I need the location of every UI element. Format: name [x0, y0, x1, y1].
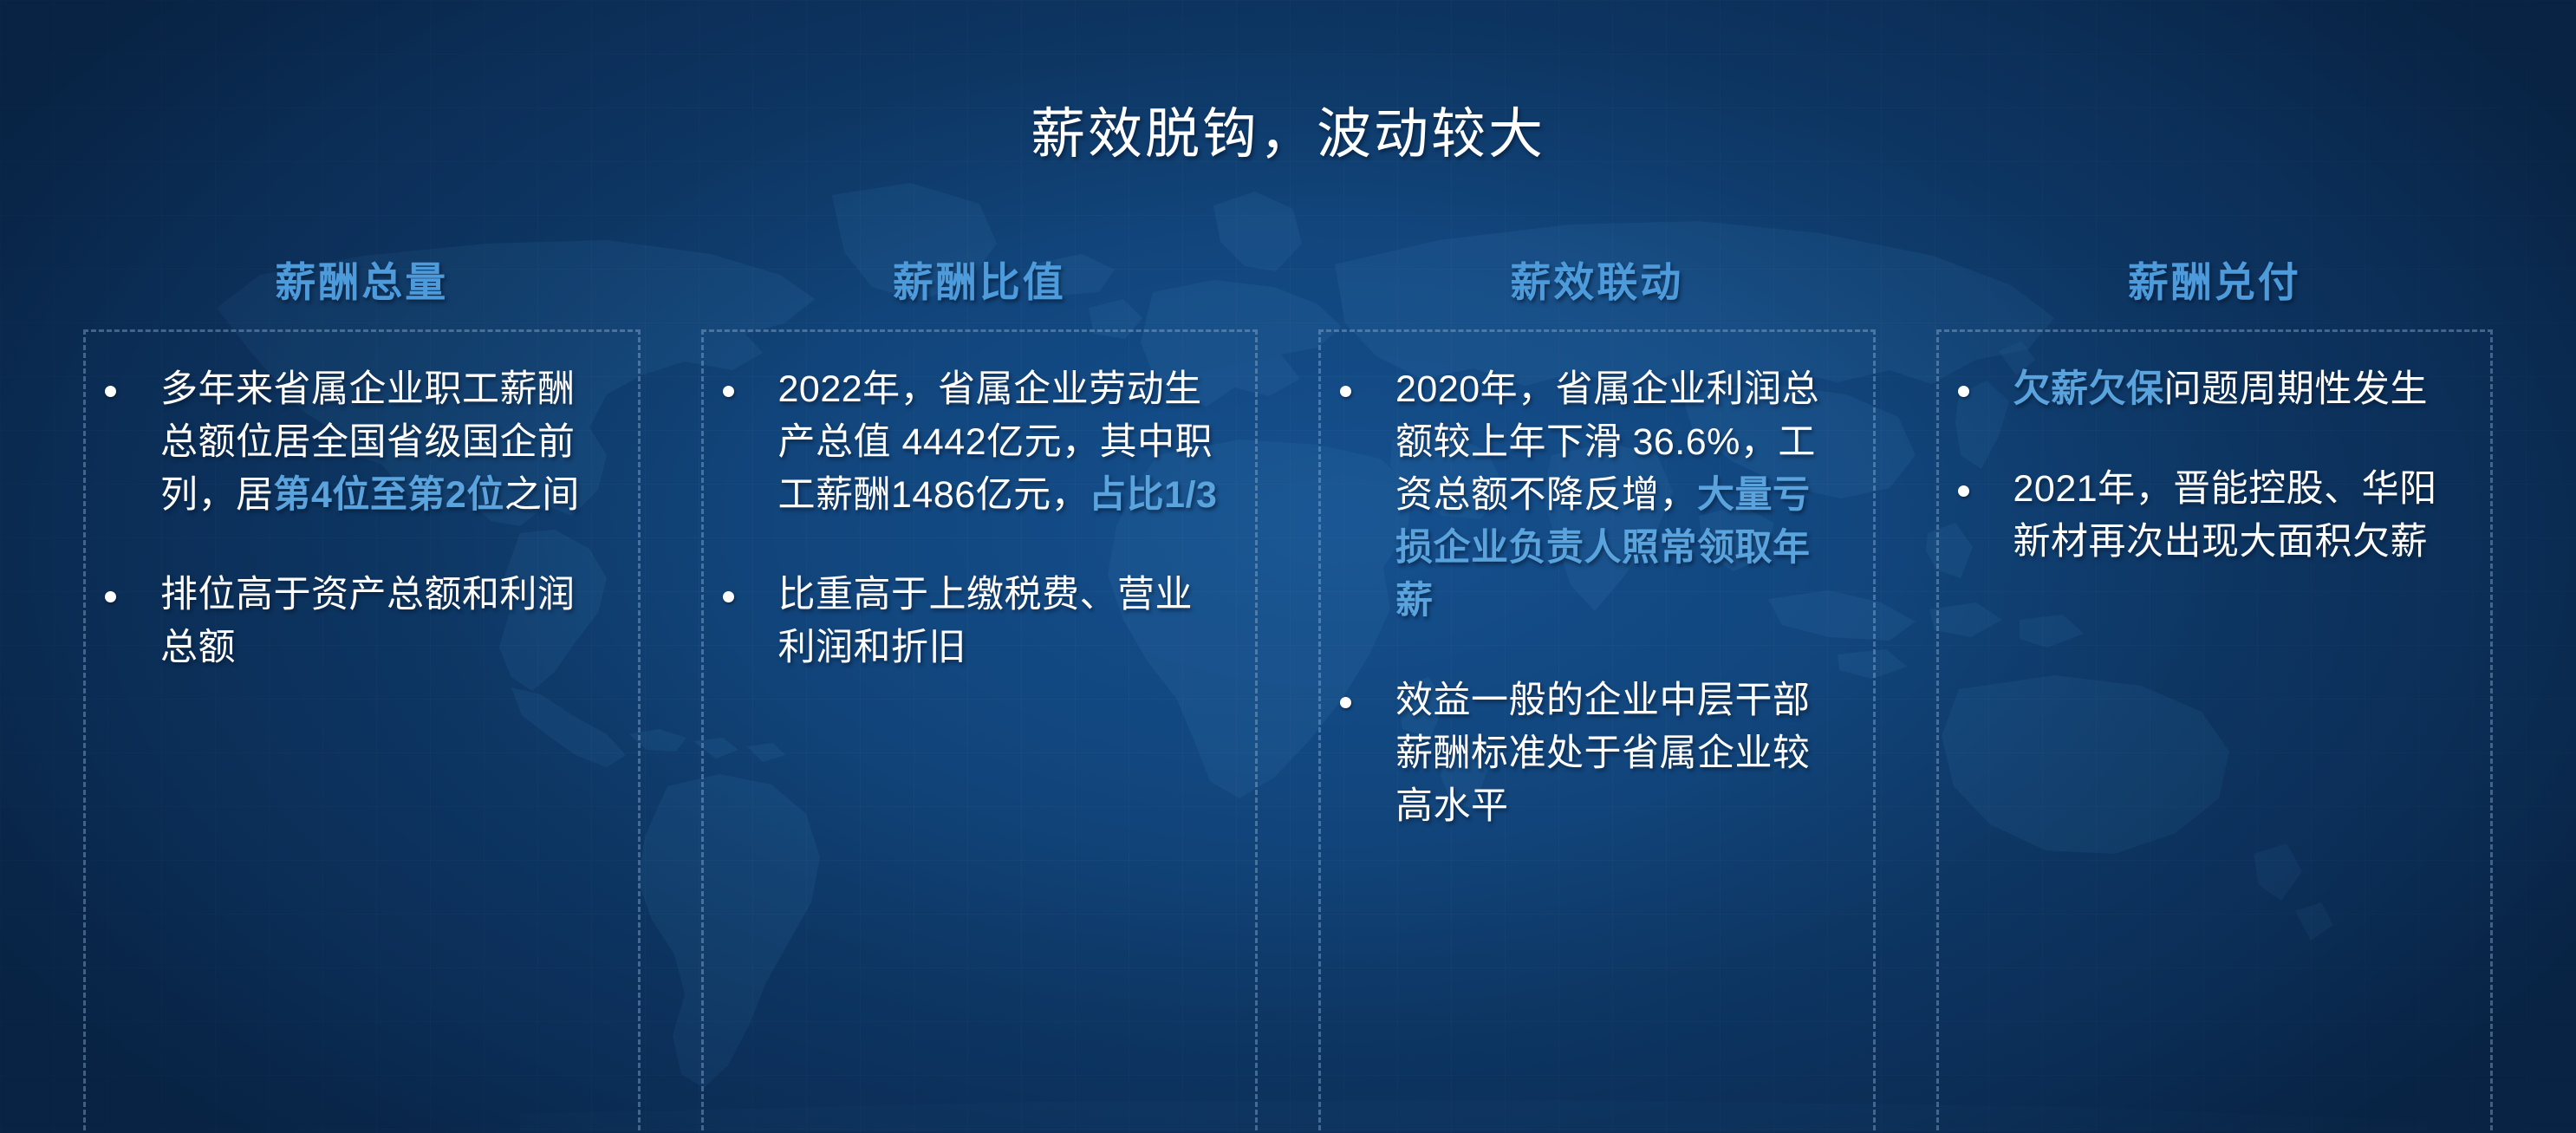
page-title: 薪效脱钩，波动较大	[0, 90, 2576, 169]
list-item: 2022年，省属企业劳动生产总值 4442亿元，其中职工薪酬1486亿元，占比1…	[723, 363, 1225, 522]
column-box-4: 欠薪欠保问题周期性发生 2021年，晋能控股、华阳新材再次出现大面积欠薪	[1936, 329, 2494, 1133]
column-box-1: 多年来省属企业职工薪酬总额位居全国省级国企前列，居第4位至第2位之间 排位高于资…	[83, 329, 641, 1133]
column-salary-total: 薪酬总量 多年来省属企业职工薪酬总额位居全国省级国企前列，居第4位至第2位之间 …	[83, 227, 641, 1133]
bullet-dot-icon	[105, 569, 160, 607]
bullet-text: 效益一般的企业中层干部薪酬标准处于省属企业较高水平	[1395, 674, 1842, 833]
list-item: 2020年，省属企业利润总额较上年下滑 36.6%，工资总额不降反增，大量亏损企…	[1340, 363, 1842, 628]
list-item: 比重高于上缴税费、营业利润和折旧	[723, 569, 1225, 674]
list-item: 排位高于资产总额和利润总额	[105, 569, 607, 674]
column-salary-payment: 薪酬兑付 欠薪欠保问题周期性发生 2021年，晋能控股、华阳新材再次出现大面积欠…	[1936, 227, 2494, 1133]
bullet-dot-icon	[105, 363, 160, 401]
bullet-dot-icon	[723, 363, 778, 401]
column-header-2: 薪酬比值	[701, 227, 1259, 329]
bullet-text: 2020年，省属企业利润总额较上年下滑 36.6%，工资总额不降反增，大量亏损企…	[1395, 363, 1842, 628]
bullet-text: 2021年，晋能控股、华阳新材再次出现大面积欠薪	[2013, 463, 2460, 569]
bullet-dot-icon	[723, 569, 778, 607]
bullet-dot-icon	[1958, 363, 2013, 401]
list-item: 效益一般的企业中层干部薪酬标准处于省属企业较高水平	[1340, 674, 1842, 833]
column-box-3: 2020年，省属企业利润总额较上年下滑 36.6%，工资总额不降反增，大量亏损企…	[1318, 329, 1876, 1133]
column-header-1: 薪酬总量	[83, 227, 641, 329]
column-header-4: 薪酬兑付	[1936, 227, 2494, 329]
list-item: 多年来省属企业职工薪酬总额位居全国省级国企前列，居第4位至第2位之间	[105, 363, 607, 522]
column-pay-performance-link: 薪效联动 2020年，省属企业利润总额较上年下滑 36.6%，工资总额不降反增，…	[1318, 227, 1876, 1133]
column-box-2: 2022年，省属企业劳动生产总值 4442亿元，其中职工薪酬1486亿元，占比1…	[701, 329, 1259, 1133]
bullet-dot-icon	[1340, 674, 1395, 713]
column-header-3: 薪效联动	[1318, 227, 1876, 329]
columns-container: 薪酬总量 多年来省属企业职工薪酬总额位居全国省级国企前列，居第4位至第2位之间 …	[83, 227, 2493, 1133]
bullet-text: 2022年，省属企业劳动生产总值 4442亿元，其中职工薪酬1486亿元，占比1…	[778, 363, 1225, 522]
bullet-dot-icon	[1958, 463, 2013, 501]
list-item: 欠薪欠保问题周期性发生	[1958, 363, 2460, 416]
list-item: 2021年，晋能控股、华阳新材再次出现大面积欠薪	[1958, 463, 2460, 569]
bullet-text: 欠薪欠保问题周期性发生	[2013, 363, 2460, 416]
bullet-text: 比重高于上缴税费、营业利润和折旧	[778, 569, 1225, 674]
column-salary-ratio: 薪酬比值 2022年，省属企业劳动生产总值 4442亿元，其中职工薪酬1486亿…	[701, 227, 1259, 1133]
bullet-text: 多年来省属企业职工薪酬总额位居全国省级国企前列，居第4位至第2位之间	[160, 363, 607, 522]
slide-canvas: 薪效脱钩，波动较大 薪酬总量 多年来省属企业职工薪酬总额位居全国省级国企前列，居…	[0, 0, 2576, 1133]
bullet-dot-icon	[1340, 363, 1395, 401]
bullet-text: 排位高于资产总额和利润总额	[160, 569, 607, 674]
